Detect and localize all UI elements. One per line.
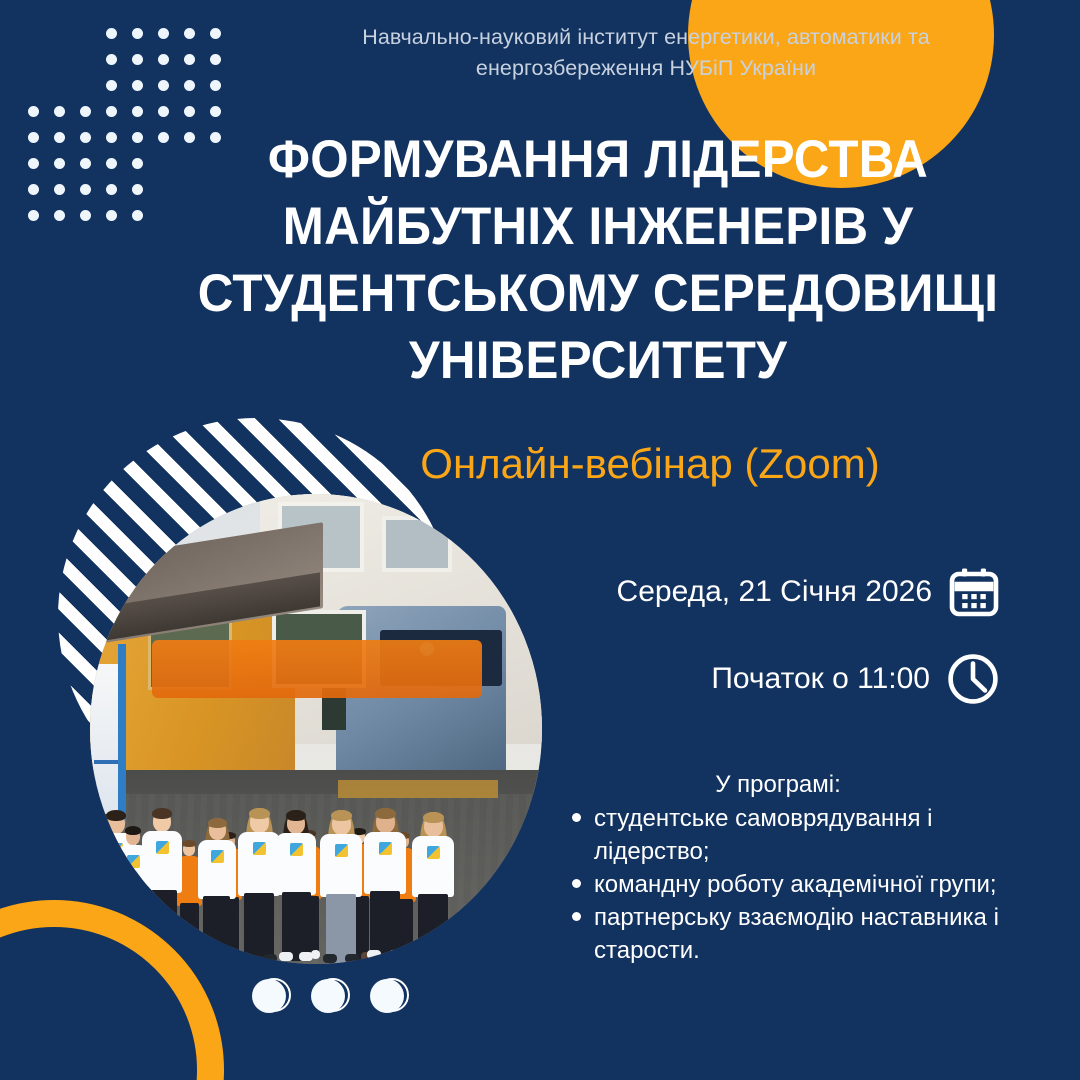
person-hair-top	[286, 810, 306, 821]
grid-dot	[184, 28, 195, 39]
title-line-2: МАЙБУТНІХ ІНЖЕНЕРІВ У	[181, 193, 1014, 260]
grid-dot	[80, 158, 91, 169]
person-shoe	[345, 954, 359, 963]
program-item-text: командну роботу академічної групи;	[594, 871, 997, 898]
person-legs	[148, 890, 177, 959]
grid-dot	[54, 132, 65, 143]
grid-dot	[80, 106, 91, 117]
institute-name: Навчально-науковий інститут енергетики, …	[290, 22, 1002, 84]
grid-dot	[158, 106, 169, 117]
person-hair-top	[375, 808, 396, 819]
person-shoe	[241, 954, 255, 963]
program-list: студентське самоврядування і лідерство;к…	[556, 802, 1000, 967]
grid-dot	[28, 158, 39, 169]
grid-dot	[80, 184, 91, 195]
circle-fill	[252, 979, 286, 1013]
grid-dot	[210, 106, 221, 117]
person-shoe	[165, 950, 179, 959]
grid-dot	[132, 80, 143, 91]
person-hair-top	[423, 812, 444, 823]
person-shoe	[145, 950, 159, 959]
students-group-photo	[90, 494, 542, 964]
photo-person	[276, 810, 316, 958]
grid-dot	[80, 210, 91, 221]
person-legs	[370, 891, 400, 959]
grid-dot	[158, 54, 169, 65]
photo-person	[320, 810, 362, 960]
bullet-icon	[572, 912, 581, 921]
person-shoe	[415, 952, 429, 961]
grid-dot	[28, 210, 39, 221]
person-legs	[282, 892, 311, 961]
grid-dot	[54, 210, 65, 221]
program-item-text: студентське самоврядування і лідерство;	[594, 805, 932, 865]
poster-canvas: Навчально-науковий інститут енергетики, …	[0, 0, 1080, 1080]
grid-dot	[54, 184, 65, 195]
person-shoe	[299, 952, 313, 961]
grid-dot	[184, 80, 195, 91]
person-shoe	[201, 952, 214, 961]
photo-person	[142, 808, 182, 956]
program-item-text: партнерську взаємодію наставника і старо…	[594, 904, 999, 964]
person-shoe	[389, 950, 403, 959]
event-date-text: Середа, 21 Січня 2026	[617, 572, 932, 612]
tshirt-logo	[211, 850, 224, 863]
grid-dot	[210, 80, 221, 91]
tshirt-logo	[156, 841, 169, 854]
grid-dot	[184, 106, 195, 117]
person-hair-top	[125, 826, 141, 835]
tshirt-logo	[253, 842, 266, 855]
person-hair-top	[106, 810, 126, 821]
grid-dot	[132, 132, 143, 143]
institute-line-1: Навчально-науковий інститут енергетики, …	[362, 25, 930, 49]
three-circles-decoration	[252, 978, 406, 1014]
grid-dot	[54, 158, 65, 169]
grid-dot	[210, 28, 221, 39]
photo-person	[412, 812, 454, 958]
person-torso	[198, 840, 236, 899]
grid-dot	[106, 54, 117, 65]
grid-dot	[106, 132, 117, 143]
bullet-icon	[572, 813, 581, 822]
person-hair-top	[208, 818, 227, 828]
tshirt-logo	[127, 855, 140, 868]
grid-dot	[158, 132, 169, 143]
photo-person	[364, 808, 406, 956]
grid-dot	[132, 106, 143, 117]
person-hair-top	[331, 810, 352, 821]
person-shoe	[323, 954, 337, 963]
photo-person	[238, 808, 280, 960]
person-hair-top	[182, 840, 196, 847]
bullet-icon	[572, 879, 581, 888]
grid-dot	[106, 210, 117, 221]
program-list-item: студентське самоврядування і лідерство;	[592, 802, 1000, 868]
grid-dot	[132, 54, 143, 65]
grid-dot	[106, 158, 117, 169]
grid-dot	[210, 54, 221, 65]
clock-icon	[946, 652, 1000, 706]
event-date-row: Середа, 21 Січня 2026	[545, 566, 1000, 618]
program-list-item: партнерську взаємодію наставника і старо…	[592, 901, 1000, 967]
person-shoe	[263, 954, 277, 963]
person-shoe	[279, 952, 293, 961]
title-line-4: УНІВЕРСИТЕТУ	[181, 327, 1014, 394]
person-legs	[244, 893, 274, 963]
person-shoe	[99, 954, 113, 963]
grid-dot	[28, 106, 39, 117]
calendar-icon	[948, 566, 1000, 618]
circle-fill	[311, 979, 345, 1013]
tshirt-logo	[335, 844, 348, 857]
grid-dot	[158, 80, 169, 91]
grid-dot	[184, 54, 195, 65]
grid-dot	[106, 106, 117, 117]
event-time-row: Початок о 11:00	[545, 652, 1000, 706]
grid-dot	[106, 184, 117, 195]
grid-dot	[28, 184, 39, 195]
tshirt-logo	[290, 843, 303, 856]
grid-dot	[28, 132, 39, 143]
program-heading: У програмі:	[556, 768, 1000, 801]
decorative-circle	[252, 978, 288, 1014]
institute-line-2: енергозбереження НУБіП України	[476, 56, 816, 80]
tshirt-logo	[379, 842, 392, 855]
grid-dot	[132, 210, 143, 221]
tshirt-logo	[427, 846, 440, 859]
circle-fill	[370, 979, 404, 1013]
title-line-3: СТУДЕНТСЬКОМУ СЕРЕДОВИЩІ	[181, 260, 1014, 327]
event-time-text: Початок о 11:00	[711, 659, 930, 699]
event-format-subtitle: Онлайн-вебінар (Zoom)	[300, 437, 1000, 491]
person-shoe	[367, 950, 381, 959]
grid-dot	[132, 184, 143, 195]
person-shoe	[437, 952, 451, 961]
grid-dot	[54, 106, 65, 117]
decorative-circle	[370, 978, 406, 1014]
program-section: У програмі: студентське самоврядування і…	[556, 768, 1000, 967]
grid-dot	[132, 28, 143, 39]
person-shoe	[120, 952, 130, 961]
title-line-1: ФОРМУВАННЯ ЛІДЕРСТВА	[181, 126, 1014, 193]
program-list-item: командну роботу академічної групи;	[592, 868, 1000, 901]
decorative-circle	[311, 978, 347, 1014]
person-legs	[326, 894, 356, 963]
person-hair-top	[152, 808, 172, 819]
page-title: ФОРМУВАННЯ ЛІДЕРСТВА МАЙБУТНІХ ІНЖЕНЕРІВ…	[181, 126, 1014, 394]
grid-dot	[132, 158, 143, 169]
grid-dot	[106, 28, 117, 39]
grid-dot	[158, 28, 169, 39]
person-hair-top	[249, 808, 270, 819]
person-legs	[418, 894, 448, 961]
grid-dot	[80, 132, 91, 143]
photo-person	[198, 818, 236, 958]
person-shoe	[220, 952, 233, 961]
grid-dot	[106, 80, 117, 91]
